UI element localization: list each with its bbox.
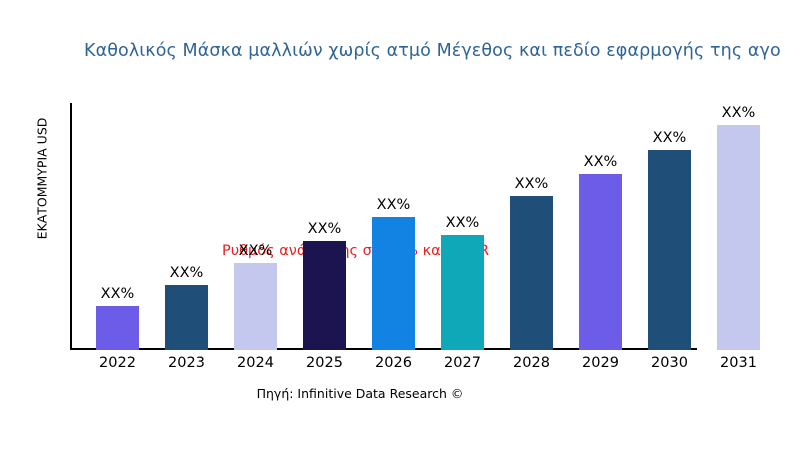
bar-2024[interactable] (234, 263, 277, 350)
y-axis-label: ΕΚΑΤΟΜΜΥΡΙΑ USD (35, 74, 50, 284)
bar-2025[interactable] (303, 241, 346, 350)
bar-value-label-2025: XX% (293, 221, 356, 237)
bar-value-label-2026: XX% (362, 197, 425, 213)
x-tick-2029: 2029 (569, 355, 632, 371)
y-axis-line (70, 103, 72, 349)
bar-value-label-2030: XX% (638, 130, 701, 146)
bar-value-label-2031: XX% (707, 105, 770, 121)
x-tick-2023: 2023 (155, 355, 218, 371)
plot-area: Ρυθμός ανάπτυξης σε XX% κατά IDR XX%XX%X… (70, 100, 790, 352)
x-tick-2027: 2027 (431, 355, 494, 371)
x-tick-2025: 2025 (293, 355, 356, 371)
bar-2029[interactable] (579, 174, 622, 350)
x-tick-2028: 2028 (500, 355, 563, 371)
bar-value-label-2029: XX% (569, 154, 632, 170)
bar-value-label-2022: XX% (86, 286, 149, 302)
bar-value-label-2023: XX% (155, 265, 218, 281)
source-note: Πηγή: Infinitive Data Research © (0, 386, 720, 401)
bar-2022[interactable] (96, 306, 139, 350)
x-tick-2022: 2022 (86, 355, 149, 371)
bar-2027[interactable] (441, 235, 484, 350)
chart-title: Καθολικός Μάσκα μαλλιών χωρίς ατμό Μέγεθ… (84, 38, 800, 64)
x-tick-2030: 2030 (638, 355, 701, 371)
bar-2031[interactable] (717, 125, 760, 350)
x-axis-tick-labels: 2022202320242025202620272028202920302031 (70, 355, 790, 377)
bar-value-label-2024: XX% (224, 243, 287, 259)
bar-value-label-2028: XX% (500, 176, 563, 192)
bar-2023[interactable] (165, 285, 208, 350)
x-tick-2031: 2031 (707, 355, 770, 371)
bar-value-label-2027: XX% (431, 215, 494, 231)
bar-2028[interactable] (510, 196, 553, 350)
bar-2026[interactable] (372, 217, 415, 350)
bar-2030[interactable] (648, 150, 691, 350)
x-tick-2024: 2024 (224, 355, 287, 371)
x-tick-2026: 2026 (362, 355, 425, 371)
